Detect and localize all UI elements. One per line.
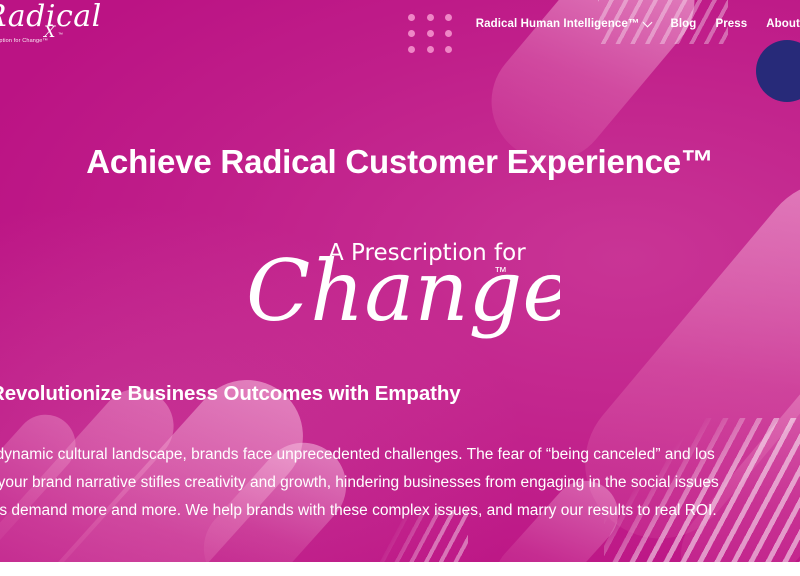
nav-item-radical-human-intelligence[interactable]: Radical Human Intelligence™	[476, 18, 652, 30]
page-bottom-strip	[0, 562, 800, 576]
site-header: Radical X ™ A Prescription for Change™ R…	[0, 0, 800, 62]
hero-section: Radical X ™ A Prescription for Change™ R…	[0, 0, 800, 562]
hero-body-copy: ay’s dynamic cultural landscape, brands …	[0, 441, 800, 525]
prescription-for-change-lockup: A Prescription for Change ™	[0, 228, 800, 346]
nav-item-label: Radical Human Intelligence™	[476, 18, 640, 30]
nav-item-label: About	[766, 18, 800, 30]
nav-item-press[interactable]: Press	[715, 18, 747, 30]
nav-item-blog[interactable]: Blog	[670, 18, 696, 30]
hero-body-line: ay’s dynamic cultural landscape, brands …	[0, 441, 800, 469]
nav-item-about[interactable]: About	[766, 18, 800, 30]
hero-body-line: umers demand more and more. We help bran…	[0, 497, 800, 525]
site-logo[interactable]: Radical X ™ A Prescription for Change™	[0, 2, 114, 32]
nav-item-label: Blog	[670, 18, 696, 30]
nav-item-label: Press	[715, 18, 747, 30]
hero-body-line: ol of your brand narrative stifles creat…	[0, 469, 800, 497]
hero-subheadline: Revolutionize Business Outcomes with Emp…	[0, 382, 790, 406]
logo-tagline: A Prescription for Change™	[0, 38, 48, 44]
chevron-down-icon[interactable]	[643, 17, 653, 27]
lockup-trademark: ™	[494, 264, 507, 279]
logo-trademark: ™	[58, 32, 63, 38]
main-navigation: Radical Human Intelligence™ Blog Press A…	[476, 18, 800, 30]
lockup-line-script: Change	[246, 242, 560, 340]
hero-headline: Achieve Radical Customer Experience™	[0, 143, 800, 181]
